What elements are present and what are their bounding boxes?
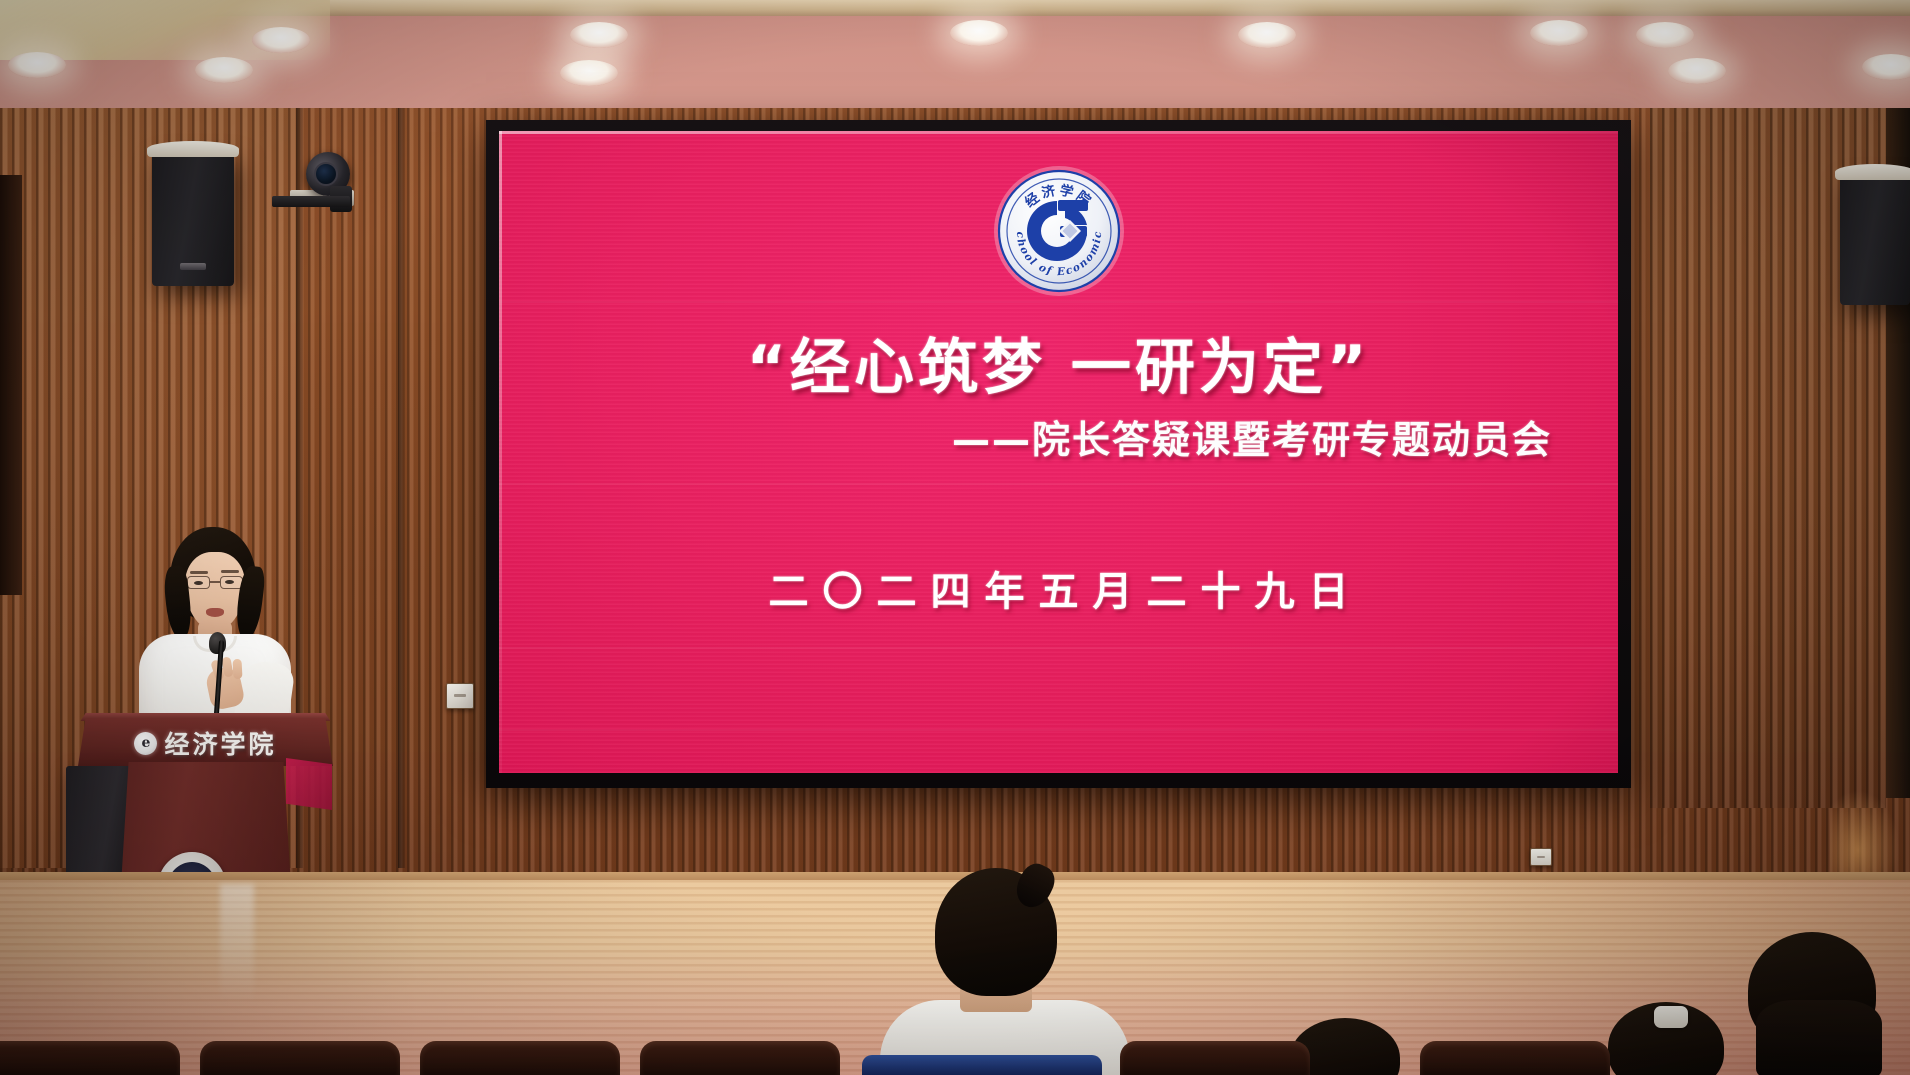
seat-back-accent xyxy=(862,1055,1102,1075)
lecture-hall-photo: 经济学院 School of Economics “经心筑梦 一研为定” ——院… xyxy=(0,0,1910,1075)
wall-speaker-far-right xyxy=(1840,175,1910,305)
downlight xyxy=(570,22,628,48)
slide-date: 二〇二四年五月二十九日 xyxy=(499,559,1618,617)
downlight xyxy=(1238,22,1296,48)
podium-label: 经济学院 xyxy=(164,725,276,761)
downlight xyxy=(195,57,253,83)
camera-bracket xyxy=(272,196,350,207)
screen-scan-band xyxy=(499,483,1618,485)
downlight xyxy=(1636,22,1694,48)
school-of-economics-emblem: 经济学院 School of Economics xyxy=(991,163,1127,299)
screen-left-highlight xyxy=(499,131,502,773)
downlight xyxy=(560,60,618,86)
seat-back xyxy=(1420,1041,1610,1075)
downlight xyxy=(252,27,310,53)
wall-speaker-left xyxy=(152,152,234,286)
screen-top-highlight xyxy=(499,131,1618,134)
speaker-top-cap xyxy=(147,141,239,157)
seat-back xyxy=(640,1041,840,1075)
seat-back xyxy=(420,1041,620,1075)
presenter-finger xyxy=(232,659,242,679)
wall-seam xyxy=(398,108,405,868)
presenter-eyebrow xyxy=(221,570,239,573)
podium-branding: e 经济学院 xyxy=(78,726,333,760)
podium-side-panel xyxy=(286,758,332,810)
downlight xyxy=(1530,20,1588,46)
slide-title: “经心筑梦 一研为定” xyxy=(499,319,1618,406)
speaker-badge xyxy=(180,263,206,270)
led-screen[interactable]: 经济学院 School of Economics “经心筑梦 一研为定” ——院… xyxy=(499,131,1618,773)
presenter-mouth xyxy=(206,608,224,617)
wall-outlet-plate[interactable] xyxy=(1530,848,1552,866)
presenter-glasses xyxy=(186,576,244,589)
wall-outlet-plate[interactable] xyxy=(446,683,474,709)
screen-scan-band xyxy=(499,301,1618,303)
speaker-top-cap xyxy=(1835,164,1910,180)
glasses-lens-left xyxy=(187,576,210,589)
downlight xyxy=(1668,58,1726,84)
audience-member-3-hair-tie xyxy=(1654,1006,1688,1028)
seat-back xyxy=(1120,1041,1310,1075)
podium-logo-icon: e xyxy=(134,732,157,755)
downlight xyxy=(950,20,1008,46)
led-screen-frame: 经济学院 School of Economics “经心筑梦 一研为定” ——院… xyxy=(486,120,1631,788)
glasses-bridge xyxy=(210,581,220,583)
left-doorway-shadow xyxy=(0,175,22,595)
seat-back xyxy=(200,1041,400,1075)
presenter-eyebrow xyxy=(190,571,208,574)
slide-subtitle: ——院长答疑课暨考研专题动员会 xyxy=(952,409,1552,464)
audience-member-4-hair xyxy=(1756,1000,1882,1075)
seat-back xyxy=(0,1041,180,1075)
screen-scan-band xyxy=(499,647,1618,649)
screen-scan-band xyxy=(499,729,1618,731)
stage-floor-reflection xyxy=(220,884,254,1004)
camera-lens-icon xyxy=(314,162,338,186)
downlight xyxy=(8,52,66,78)
